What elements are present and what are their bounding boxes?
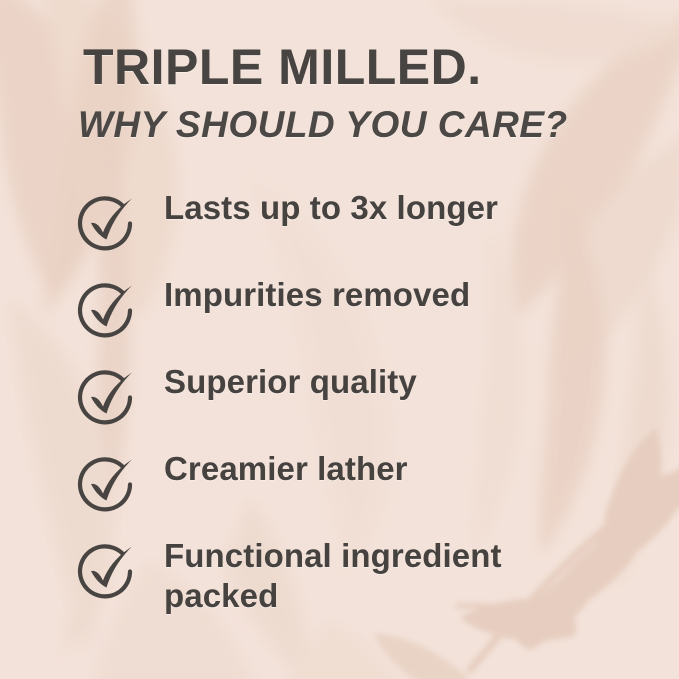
check-circle-icon [74,540,140,606]
benefit-label: Superior quality [164,362,417,402]
check-circle-icon [74,279,140,345]
benefit-list: Lasts up to 3x longer Impurities removed [0,188,679,623]
benefit-label: Lasts up to 3x longer [164,188,498,228]
check-circle-icon [74,453,140,519]
triple-milled-infographic: TRIPLE MILLED. WHY SHOULD YOU CARE? Last… [0,0,679,679]
list-item: Lasts up to 3x longer [0,188,679,275]
benefit-label: Creamier lather [164,449,408,489]
content-layer: TRIPLE MILLED. WHY SHOULD YOU CARE? Last… [0,0,679,679]
check-circle-icon [74,192,140,258]
page-title: TRIPLE MILLED. [83,42,482,92]
list-item: Creamier lather [0,449,679,536]
benefit-label: Impurities removed [164,275,470,315]
list-item: Superior quality [0,362,679,449]
check-circle-icon [74,366,140,432]
list-item: Functional ingredient packed [0,536,679,623]
page-subtitle: WHY SHOULD YOU CARE? [78,106,568,143]
benefit-label: Functional ingredient packed [164,536,594,617]
list-item: Impurities removed [0,275,679,362]
